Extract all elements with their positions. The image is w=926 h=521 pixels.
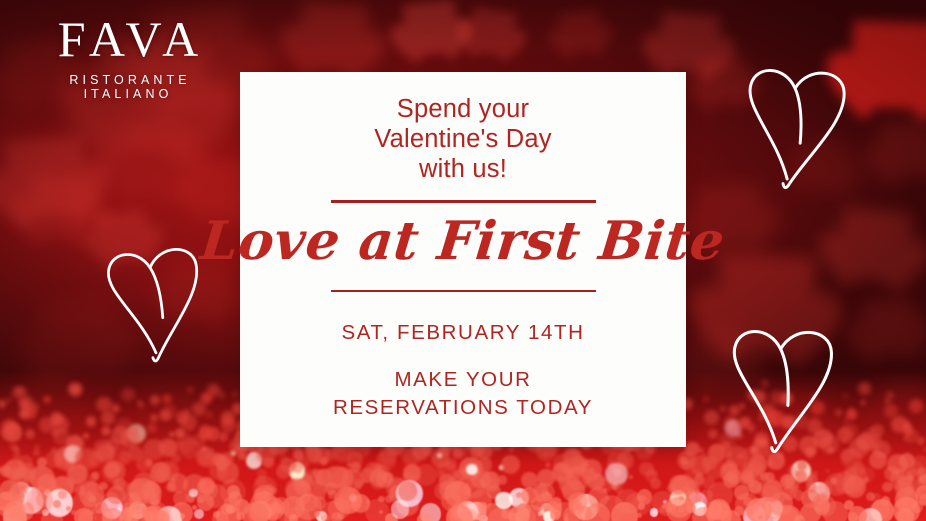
hand-drawn-heart-top-right	[722, 35, 865, 223]
headline-line-3: with us!	[374, 154, 552, 184]
card-headline: Spend your Valentine's Day with us!	[374, 94, 552, 184]
brand-tagline: RISTORANTE ITALIANO	[28, 73, 228, 101]
divider-bottom	[331, 290, 596, 293]
divider-top	[331, 200, 596, 203]
announcement-card: Spend your Valentine's Day with us! Love…	[240, 72, 686, 447]
headline-line-1: Spend your	[374, 94, 552, 124]
cta-line-2: RESERVATIONS TODAY	[333, 394, 593, 422]
valentines-promo-poster: FAVA RISTORANTE ITALIANO Spend your Vale…	[0, 0, 926, 521]
event-date: SAT, FEBRUARY 14TH	[342, 321, 585, 345]
headline-line-2: Valentine's Day	[374, 124, 552, 154]
hand-drawn-heart-bottom-right	[710, 297, 851, 486]
brand-wordmark: FAVA	[28, 14, 228, 64]
brand-logo: FAVA RISTORANTE ITALIANO	[28, 14, 228, 101]
card-script-title: Love at First Bite	[198, 215, 727, 268]
call-to-action: MAKE YOUR RESERVATIONS TODAY	[333, 366, 593, 421]
cta-line-1: MAKE YOUR	[333, 366, 593, 394]
